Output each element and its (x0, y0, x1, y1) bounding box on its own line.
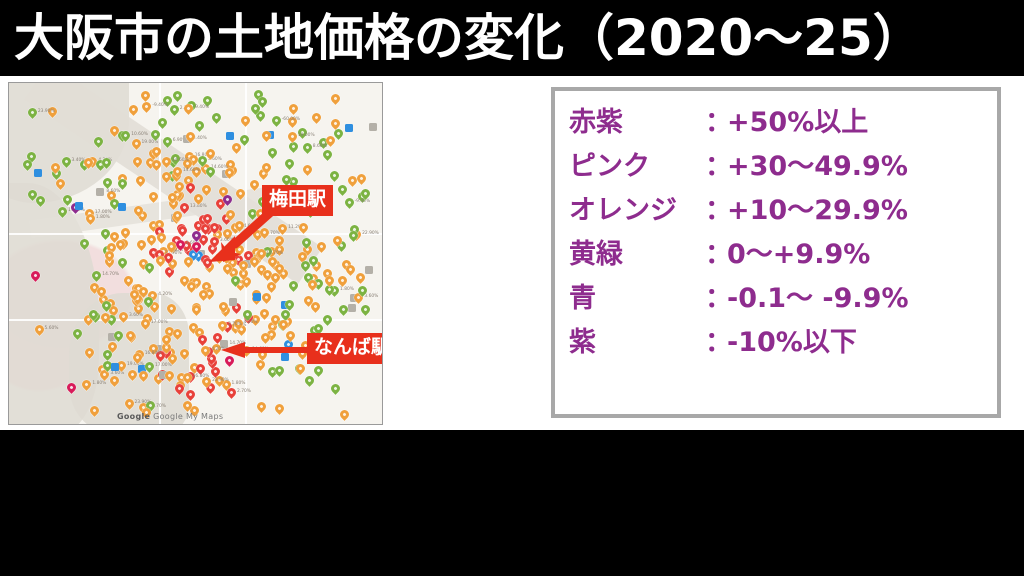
map-value-label: 1.80% (340, 287, 354, 292)
map-station-marker[interactable] (118, 203, 126, 211)
map-pin[interactable] (238, 133, 251, 146)
map-pin[interactable] (301, 141, 314, 154)
legend-separator: ： (705, 285, 727, 312)
map-station-marker[interactable] (253, 293, 261, 301)
map-value-label: 4.20% (211, 347, 225, 352)
map-value-label: 3.60% (220, 238, 234, 243)
callout-namba: なんば駅 (307, 333, 383, 364)
map-station-marker[interactable] (96, 188, 104, 196)
map-value-label: 22.90% (362, 231, 379, 236)
google-logo: Google (117, 412, 150, 421)
map-value-label: 19.00% (298, 133, 315, 138)
legend-color-name: 赤紫 (569, 109, 705, 136)
map-pin[interactable] (239, 114, 252, 127)
map-pin[interactable] (355, 172, 368, 185)
map-pin[interactable] (283, 157, 296, 170)
map-canvas[interactable]: 10.60%16.80%6.90%22.90%3.40%14.70%10.60%… (9, 83, 382, 424)
map-pin[interactable] (193, 119, 206, 132)
legend-row: 青：-0.1〜 -9.9% (569, 285, 997, 329)
map-pin[interactable] (101, 176, 114, 189)
map-pin[interactable] (128, 103, 141, 116)
map-pin[interactable] (156, 117, 169, 130)
map-station-marker[interactable] (365, 266, 373, 274)
map-pin[interactable] (168, 103, 181, 116)
legend-color-name: 紫 (569, 329, 705, 356)
legend-separator: ： (705, 241, 727, 268)
map-pin[interactable] (139, 89, 152, 102)
legend-separator: ： (705, 197, 727, 224)
map-value-label: 19.00% (127, 362, 144, 367)
map-pin[interactable] (288, 103, 301, 116)
map-pin[interactable] (141, 100, 154, 113)
map-pin[interactable] (336, 274, 349, 287)
legend-separator: ： (705, 329, 727, 356)
slide-root: 大阪市の土地価格の変化（2020〜25） 10.60%16.80%6.90%22… (0, 0, 1024, 576)
map-value-label: 1.80% (92, 381, 106, 386)
content-area: 10.60%16.80%6.90%22.90%3.40%14.70%10.60%… (0, 76, 1024, 430)
map-pin[interactable] (304, 374, 317, 387)
map-pin[interactable] (359, 303, 372, 316)
map-station-marker[interactable] (229, 298, 237, 306)
map-station-marker[interactable] (226, 132, 234, 140)
map-value-label: 8.60% (106, 189, 120, 194)
map-value-label: 14.60% (172, 158, 189, 163)
map-pin[interactable] (119, 226, 132, 239)
map-station-marker[interactable] (281, 353, 289, 361)
title-bar: 大阪市の土地価格の変化（2020〜25） (0, 0, 1024, 76)
map-value-label: 1.80% (96, 215, 110, 220)
map-pin[interactable] (312, 365, 325, 378)
legend-list: 赤紫：+50%以上ピンク：+30〜49.9%オレンジ：+10〜29.9%黄緑：0… (555, 91, 997, 373)
map-station-marker[interactable] (111, 363, 119, 371)
map-pin[interactable] (321, 148, 334, 161)
map-value-label: 4.20% (158, 292, 172, 297)
map-value-label: 17.00% (151, 320, 168, 325)
map-value-label: 4.20% (244, 320, 258, 325)
map-value-label: 10.60% (131, 132, 148, 137)
map-value-label: 5.60% (45, 326, 59, 331)
map-value-label: 8.60% (313, 144, 327, 149)
legend-range-value: -10%以下 (727, 329, 857, 356)
callout-umeda: 梅田駅 (262, 185, 333, 216)
map-pin[interactable] (321, 313, 334, 326)
map-pin[interactable] (210, 112, 223, 125)
map-pin[interactable] (329, 117, 342, 130)
map-pin[interactable] (311, 111, 324, 124)
map-pin[interactable] (338, 408, 351, 421)
map-station-marker[interactable] (369, 123, 377, 131)
map-pin[interactable] (223, 354, 236, 367)
legend-separator: ： (705, 153, 727, 180)
map-value-label: -9.40% (194, 105, 210, 110)
map-pin[interactable] (240, 344, 253, 357)
map-value-label: 19.00% (142, 140, 159, 145)
legend-box: 赤紫：+50%以上ピンク：+30〜49.9%オレンジ：+10〜29.9%黄緑：0… (551, 87, 1001, 418)
map-value-label: 3.60% (364, 294, 378, 299)
map-pin[interactable] (171, 89, 184, 102)
legend-range-value: +10〜29.9% (727, 197, 908, 224)
legend-color-name: ピンク (569, 153, 705, 180)
map-value-label: 14.70% (266, 251, 283, 256)
map-station-marker[interactable] (75, 202, 83, 210)
map-value-label: 14.60% (252, 347, 269, 352)
map-panel[interactable]: 10.60%16.80%6.90%22.90%3.40%14.70%10.60%… (8, 82, 383, 425)
map-value-label: 2.70% (237, 389, 251, 394)
map-value-label: 3.60% (129, 313, 143, 318)
map-pin[interactable] (256, 400, 269, 413)
map-station-marker[interactable] (34, 169, 42, 177)
legend-row: ピンク：+30〜49.9% (569, 153, 997, 197)
map-pin[interactable] (329, 382, 342, 395)
map-pin[interactable] (116, 256, 129, 269)
legend-row: 赤紫：+50%以上 (569, 109, 997, 153)
map-value-label: 16.80% (145, 351, 162, 356)
map-pin[interactable] (230, 141, 243, 154)
legend-range-value: -0.1〜 -9.9% (727, 285, 909, 312)
map-value-label: 23.90% (212, 378, 229, 383)
map-pin[interactable] (270, 114, 283, 127)
page-title: 大阪市の土地価格の変化（2020〜25） (0, 13, 923, 63)
legend-range-value: +30〜49.9% (727, 153, 908, 180)
map-value-label: -9.40% (152, 103, 168, 108)
map-pin[interactable] (330, 92, 343, 105)
map-station-marker[interactable] (348, 304, 356, 312)
map-attribution-text: Google My Maps (153, 412, 223, 421)
map-value-label: 16.80% (193, 374, 210, 379)
map-value-label: 17.00% (155, 363, 172, 368)
map-pin[interactable] (328, 169, 341, 182)
map-station-marker[interactable] (345, 124, 353, 132)
map-pin[interactable] (336, 183, 349, 196)
map-value-label: -60.00% (282, 117, 300, 122)
legend-row: オレンジ：+10〜29.9% (569, 197, 997, 241)
map-value-label: 23.90% (38, 109, 55, 114)
map-value-label: 14.60% (183, 168, 200, 173)
map-pin[interactable] (273, 402, 286, 415)
map-value-label: 1.80% (232, 381, 246, 386)
legend-range-value: +50%以上 (727, 109, 868, 136)
legend-separator: ： (705, 109, 727, 136)
map-value-label: -9.40% (355, 199, 371, 204)
legend-color-name: 黄緑 (569, 241, 705, 268)
map-attribution: Google Google My Maps (117, 412, 223, 421)
legend-color-name: オレンジ (569, 197, 705, 224)
map-pin[interactable] (254, 358, 267, 371)
legend-range-value: 0〜+9.9% (727, 241, 870, 268)
map-value-label: 2.70% (228, 322, 242, 327)
map-pin[interactable] (301, 163, 314, 176)
legend-row: 紫：-10%以下 (569, 329, 997, 373)
legend-color-name: 青 (569, 285, 705, 312)
map-pin[interactable] (343, 196, 356, 209)
legend-row: 黄緑：0〜+9.9% (569, 241, 997, 285)
bottom-band (0, 430, 1024, 576)
map-pin[interactable] (266, 147, 279, 160)
map-value-label: 14.70% (102, 272, 119, 277)
map-value-label: 23.90% (135, 400, 152, 405)
